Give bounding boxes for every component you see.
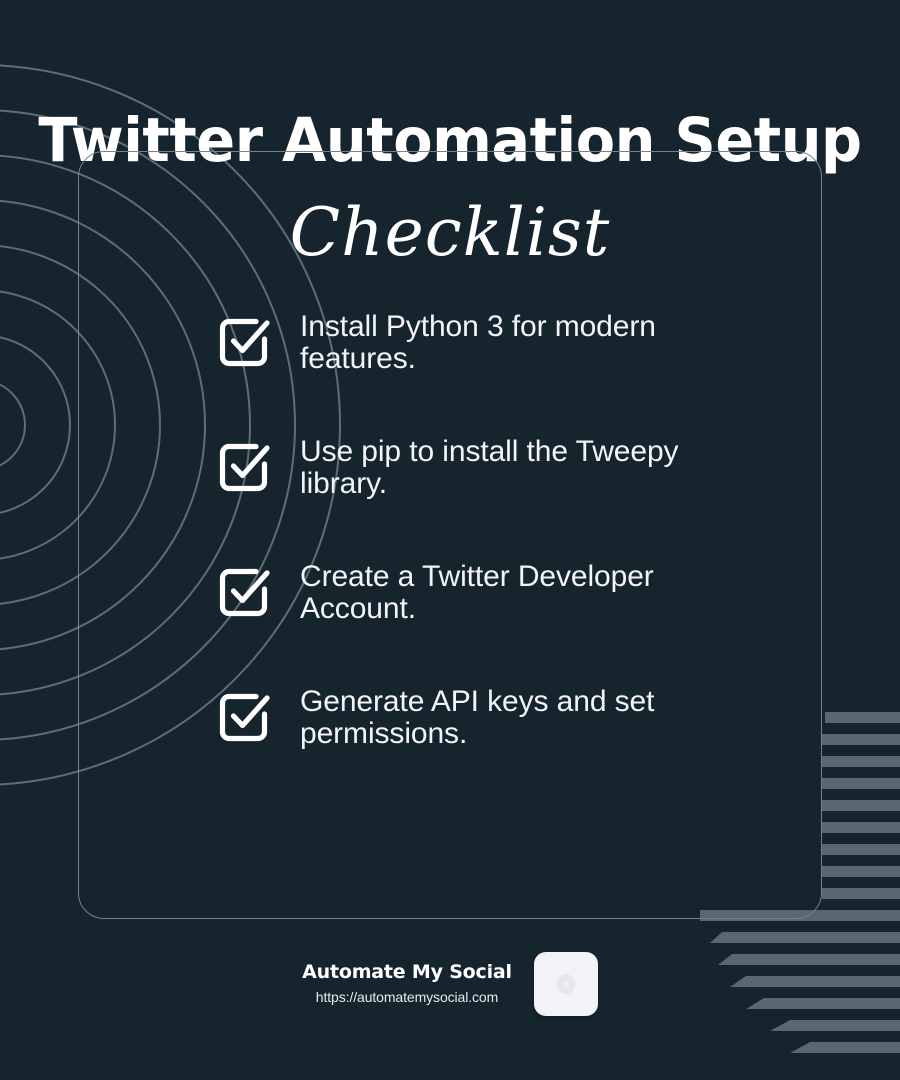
checkbox-checked-icon[interactable] [216,689,273,746]
list-item[interactable]: Create a Twitter Developer Account. [79,561,821,686]
decor-stripe [822,800,900,811]
list-item-label: Install Python 3 for modern features. [300,311,720,374]
checklist-card: Checklist Install Python 3 for modern fe… [78,151,822,919]
footer-brand-block: Automate My Social https://automatemysoc… [302,960,512,1009]
decor-ring [0,334,71,516]
decor-stripe [822,844,900,855]
decor-stripe [822,822,900,833]
decor-stripe [822,734,900,745]
checkbox-checked-icon[interactable] [216,564,273,621]
checklist: Install Python 3 for modern features. Us… [79,267,821,811]
decor-stripe [822,756,900,767]
footer: Automate My Social https://automatemysoc… [0,952,900,1016]
decor-stripe [822,888,900,899]
list-item[interactable]: Install Python 3 for modern features. [79,311,821,436]
brand-logo-icon [534,952,598,1016]
list-item-label: Use pip to install the Tweepy library. [300,436,720,499]
checkbox-checked-icon[interactable] [216,314,273,371]
decor-stripe [710,932,900,943]
decor-stripe [822,778,900,789]
poster-canvas: Twitter Automation Setup Checklist Insta… [0,0,900,1080]
list-item[interactable]: Generate API keys and set permissions. [79,686,821,811]
brand-name: Automate My Social [302,960,512,985]
checkbox-checked-icon[interactable] [216,439,273,496]
list-item-label: Generate API keys and set permissions. [300,686,720,749]
brand-url[interactable]: https://automatemysocial.com [302,987,512,1008]
list-item-label: Create a Twitter Developer Account. [300,561,720,624]
decor-stripe [825,712,900,723]
decor-stripe [822,866,900,877]
decor-stripe [790,1042,900,1053]
list-item[interactable]: Use pip to install the Tweepy library. [79,436,821,561]
card-heading: Checklist [79,152,821,267]
decor-ring [0,379,26,471]
decor-stripe [770,1020,900,1031]
brand-emblem-icon [557,974,575,994]
